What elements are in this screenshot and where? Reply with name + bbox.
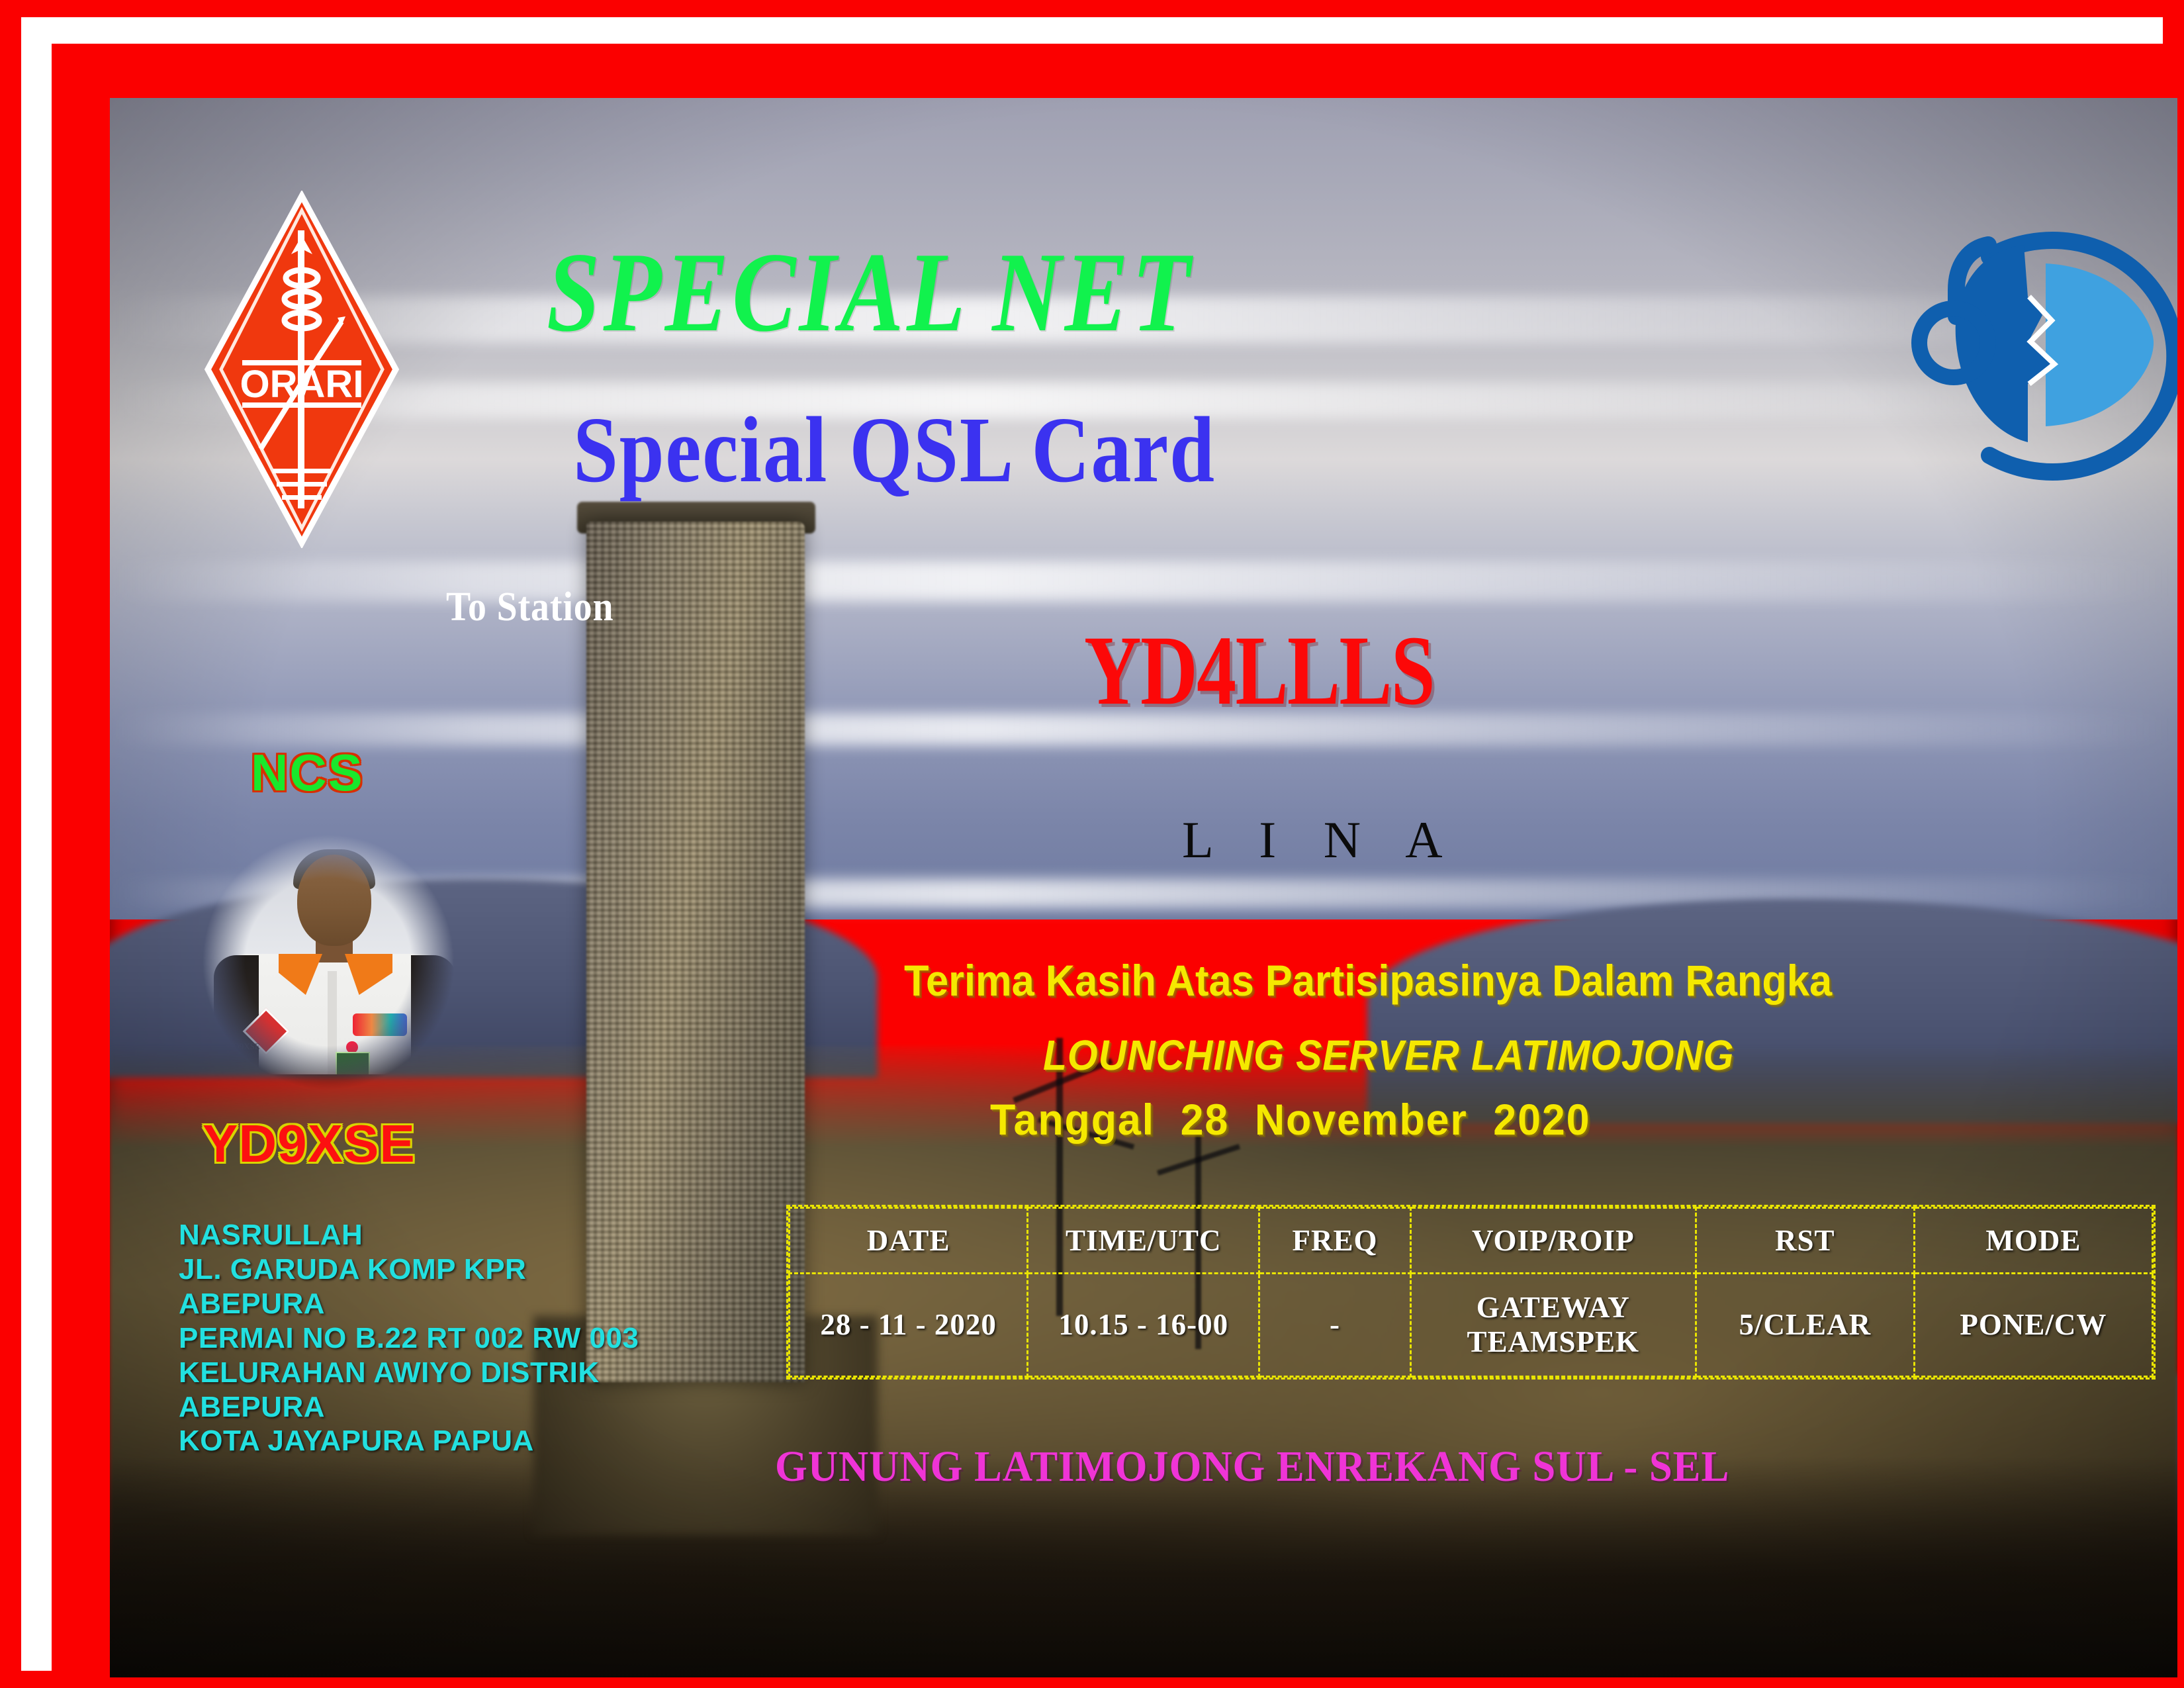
address-line: JL. GARUDA KOMP KPR	[179, 1252, 639, 1287]
address-line: KOTA JAYAPURA PAPUA	[179, 1424, 639, 1458]
column-header-time: TIME/UTC	[1028, 1208, 1259, 1274]
table-header-row: DATE TIME/UTC FREQ VOIP/ROIP RST MODE	[790, 1208, 2153, 1274]
ncs-operator-photo: YD9XSE	[179, 823, 477, 1101]
ncs-label: NCS	[251, 747, 364, 798]
page-title: SPECIAL NET	[547, 236, 1193, 350]
address-line: ABEPURA	[179, 1390, 639, 1425]
thanks-line-1: Terima Kasih Atas Partisipasinya Dalam R…	[904, 959, 1832, 1002]
cell-time: 10.15 - 16-00	[1028, 1274, 1259, 1377]
cell-freq: -	[1259, 1274, 1410, 1377]
orari-logo: ORARI	[203, 191, 401, 548]
address-line: PERMAI NO B.22 RT 002 RW 003	[179, 1321, 639, 1356]
ncs-callsign: YD9XSE	[203, 1117, 416, 1170]
column-header-rst: RST	[1696, 1208, 1914, 1274]
qsl-card: ORARI SPECIAL NET	[0, 0, 2184, 1688]
orari-logo-text: ORARI	[240, 363, 364, 406]
photo-waist	[226, 1089, 444, 1101]
headphone-operator-waves-logo	[1910, 204, 2177, 482]
cell-voip-roip: GATEWAY TEAMSPEK	[1410, 1274, 1696, 1377]
location-line: GUNUNG LATIMOJONG ENREKANG SUL - SEL	[775, 1445, 1729, 1489]
column-header-mode: MODE	[1914, 1208, 2152, 1274]
qso-log-table: DATE TIME/UTC FREQ VOIP/ROIP RST MODE 28…	[786, 1205, 2156, 1380]
to-station-label: To Station	[446, 586, 614, 628]
photo-shoulder-right	[411, 955, 456, 1088]
column-header-date: DATE	[790, 1208, 1028, 1274]
column-header-freq: FREQ	[1259, 1208, 1410, 1274]
cell-mode: PONE/CW	[1914, 1274, 2152, 1377]
address-line: ABEPURA	[179, 1287, 639, 1321]
photo-embroidered-callsign: YD9XSE	[227, 1041, 279, 1052]
cell-date: 28 - 11 - 2020	[790, 1274, 1028, 1377]
operator-name: L I N A	[1182, 814, 1460, 866]
cell-rst: 5/CLEAR	[1696, 1274, 1914, 1377]
card-photo-background: ORARI SPECIAL NET	[110, 98, 2177, 1677]
photo-shoulder-patch	[353, 1013, 407, 1036]
table-row: 28 - 11 - 2020 10.15 - 16-00 - GATEWAY T…	[790, 1274, 2153, 1377]
station-callsign: YD4LLLS	[1084, 621, 1434, 720]
thanks-line-3: Tanggal 28 November 2020	[990, 1098, 1590, 1141]
thanks-line-2: LOUNCHING SERVER LATIMOJONG	[1043, 1034, 1734, 1076]
column-header-voip-roip: VOIP/ROIP	[1410, 1208, 1696, 1274]
station-address-block: NASRULLAH JL. GARUDA KOMP KPR ABEPURA PE…	[179, 1218, 639, 1458]
address-line: NASRULLAH	[179, 1218, 639, 1252]
photo-head	[297, 855, 371, 946]
address-line: KELURAHAN AWIYO DISTRIK	[179, 1356, 639, 1390]
subtitle: Special QSL Card	[573, 402, 1216, 496]
card-red-inner-frame: ORARI SPECIAL NET	[52, 44, 2175, 1679]
card-white-inner-line: ORARI SPECIAL NET	[21, 17, 2163, 1671]
